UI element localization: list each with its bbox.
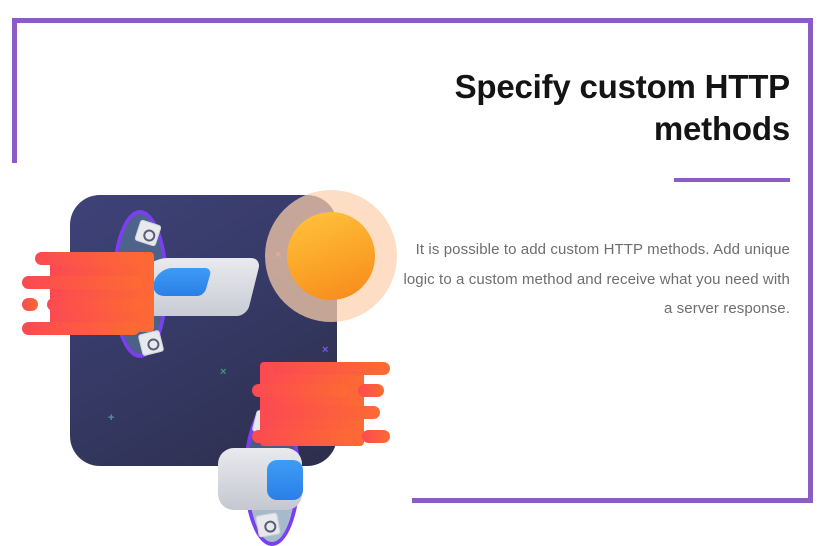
frame-border-bottom [412, 498, 813, 503]
sparkle-cross-2: × [220, 367, 226, 378]
page-title: Specify custom HTTP methods [398, 66, 790, 150]
slide-canvas: Specify custom HTTP methods It is possib… [0, 0, 825, 525]
speed-line-right-4 [264, 406, 380, 419]
speed-line-left-5 [22, 322, 140, 335]
sparkle-plus-2: + [108, 413, 114, 424]
speed-line-right-6 [362, 430, 390, 443]
custom-http-methods-illustration: + × × + × [22, 180, 394, 480]
body-paragraph: It is possible to add custom HTTP method… [398, 235, 790, 323]
speed-line-right-1 [272, 362, 390, 375]
speed-line-left-1 [35, 252, 143, 265]
speed-line-right-3 [358, 384, 384, 397]
speed-line-left-3 [22, 298, 38, 311]
speed-line-right-5 [252, 430, 352, 443]
speed-line-right-2 [252, 384, 348, 397]
title-divider [674, 178, 790, 182]
sun-circle [287, 212, 375, 300]
speed-line-left-4 [47, 298, 143, 311]
frame-border-top [12, 18, 813, 23]
capsule-window [267, 460, 303, 500]
rocket-window [150, 268, 212, 296]
speed-line-left-2 [22, 276, 142, 289]
text-column: Specify custom HTTP methods It is possib… [398, 66, 790, 323]
data-chip-4 [255, 512, 280, 537]
sparkle-cross-3: × [322, 345, 328, 356]
frame-border-left [12, 18, 17, 163]
frame-border-right [808, 18, 813, 503]
